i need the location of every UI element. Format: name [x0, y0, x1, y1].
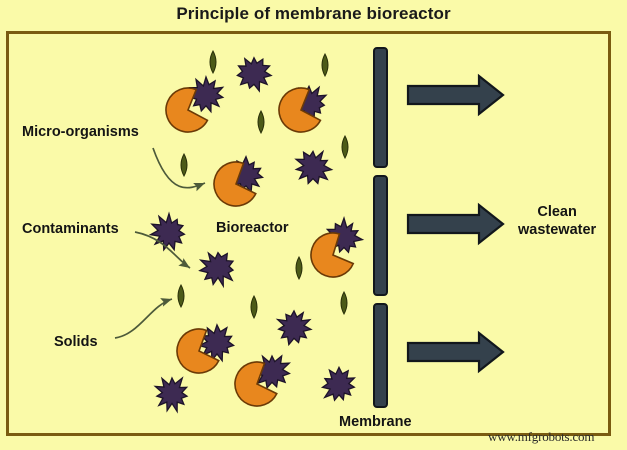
contaminant-particle — [237, 58, 271, 91]
contaminant-particle — [278, 311, 311, 345]
solid-particle — [181, 154, 187, 176]
label-microorganisms: Micro-organisms — [22, 124, 139, 142]
label-membrane: Membrane — [339, 414, 412, 432]
membrane-bar — [374, 48, 387, 167]
pointer-line — [153, 148, 205, 188]
flow-arrow — [408, 205, 503, 243]
label-clean-wastewater: Clean wastewater — [518, 204, 596, 239]
solid-particle — [251, 296, 257, 318]
flow-arrow — [408, 76, 503, 114]
membrane-bar — [374, 304, 387, 407]
solid-particle — [341, 292, 347, 314]
label-solids: Solids — [54, 334, 98, 352]
contaminant-particle — [200, 253, 233, 286]
label-clean-line2: wastewater — [518, 222, 596, 240]
solid-particle — [258, 111, 264, 133]
pointer-arrowhead — [193, 179, 207, 191]
solid-particle — [342, 136, 348, 158]
flow-arrows-group — [408, 76, 503, 371]
membrane-group — [374, 48, 387, 407]
solid-particle — [178, 285, 184, 307]
solid-particle — [322, 54, 328, 76]
contaminant-particle — [323, 367, 355, 400]
label-clean-line1: Clean — [518, 204, 596, 222]
contaminant-particle — [151, 214, 185, 250]
pointer-arrows-group — [115, 148, 207, 338]
label-contaminants: Contaminants — [22, 221, 119, 239]
label-bioreactor: Bioreactor — [216, 220, 289, 238]
watermark: www.mfgrobots.com — [488, 429, 594, 445]
contaminant-particle — [296, 151, 332, 183]
diagram-canvas: Principle of membrane bioreactor Micro-o… — [0, 0, 627, 450]
solid-particle — [296, 257, 302, 279]
flow-arrow — [408, 333, 503, 371]
solid-particle — [210, 51, 216, 73]
membrane-bar — [374, 176, 387, 295]
microorganisms-group — [160, 84, 356, 412]
contaminant-particle — [155, 378, 187, 411]
